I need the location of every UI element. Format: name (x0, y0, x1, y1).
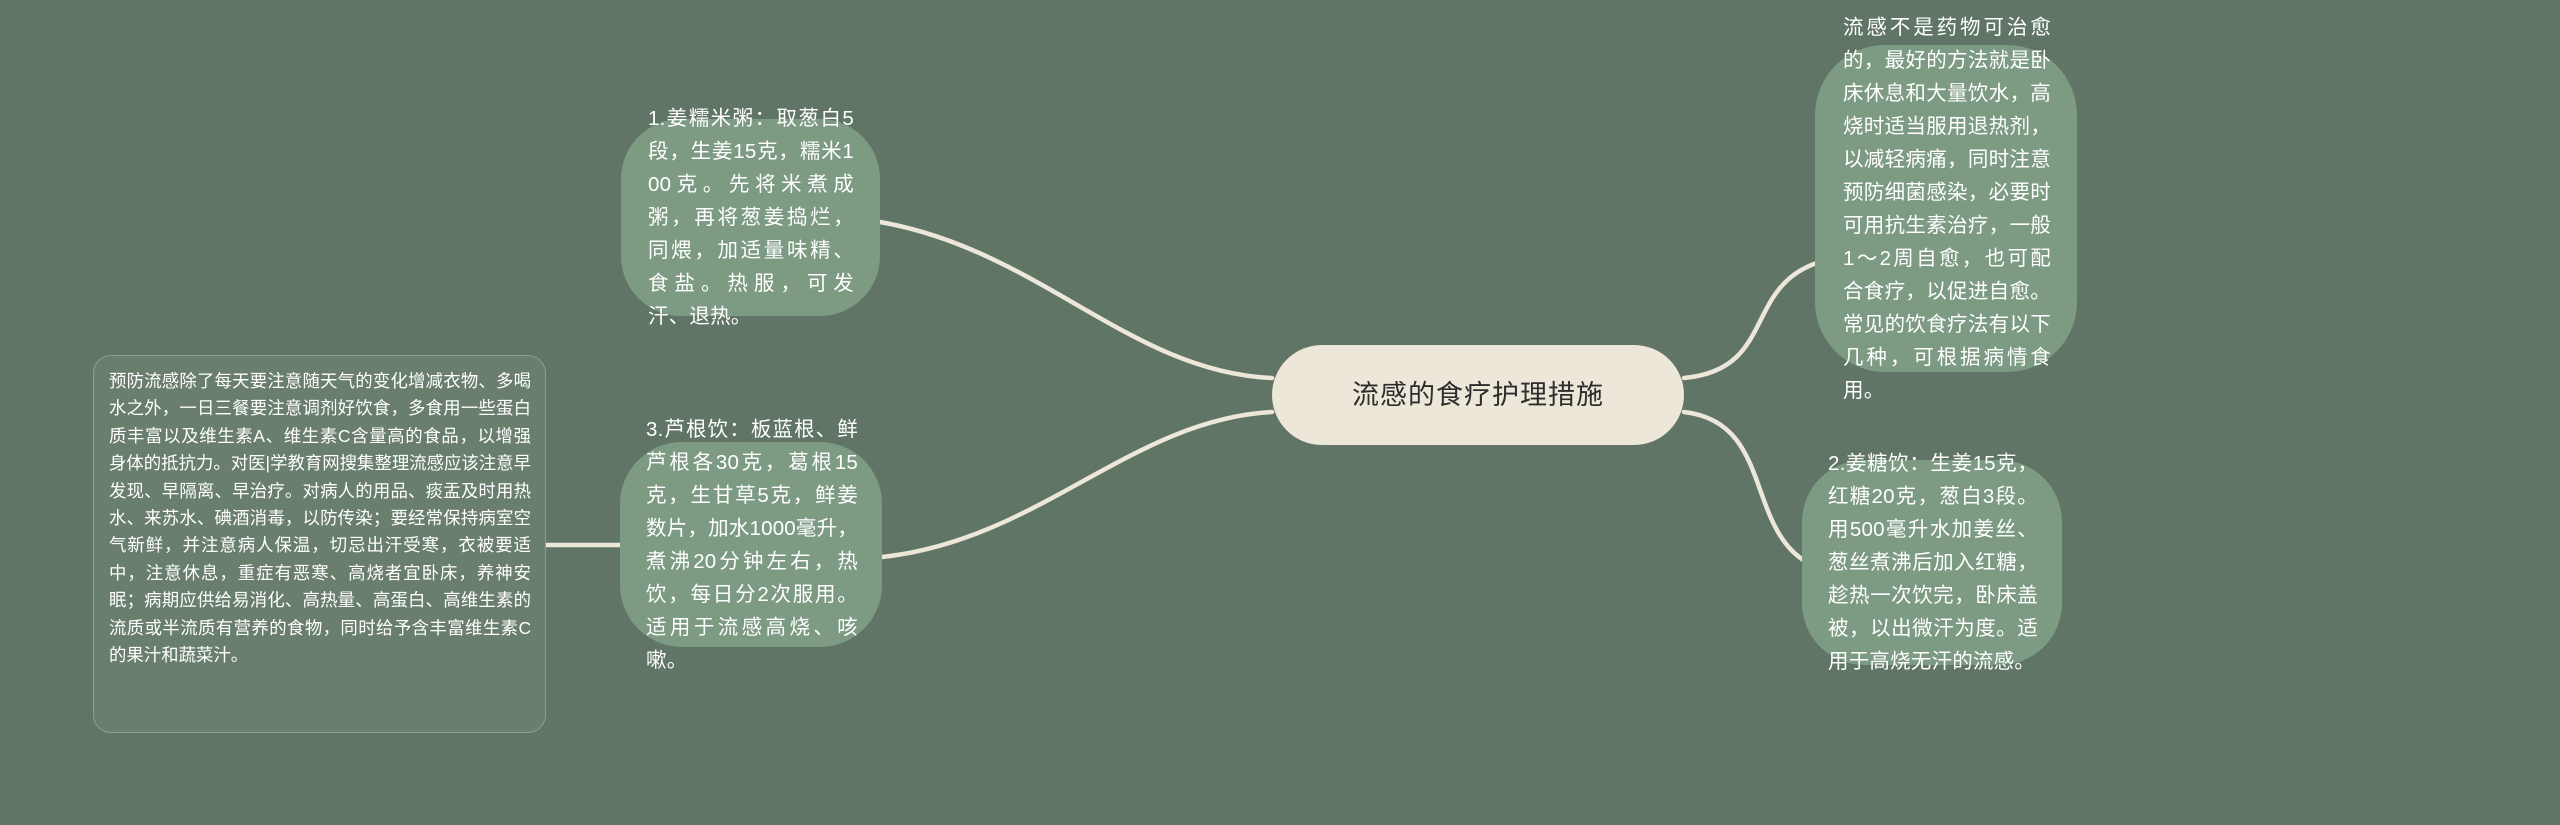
node-item-1-text: 1.姜糯米粥：取葱白5段，生姜15克，糯米100克。先将米煮成粥，再将葱姜捣烂，… (648, 102, 854, 333)
prevention-note-box[interactable]: 预防流感除了每天要注意随天气的变化增减衣物、多喝水之外，一日三餐要注意调剂好饮食… (93, 355, 546, 733)
node-intro-text: 流感不是药物可治愈的，最好的方法就是卧床休息和大量饮水，高烧时适当服用退热剂，以… (1843, 11, 2051, 407)
prevention-note-text: 预防流感除了每天要注意随天气的变化增减衣物、多喝水之外，一日三餐要注意调剂好饮食… (109, 368, 531, 669)
center-node-label: 流感的食疗护理措施 (1352, 378, 1604, 412)
mindmap-node-item-3[interactable]: 3.芦根饮：板蓝根、鲜芦根各30克，葛根15克，生甘草5克，鲜姜数片，加水100… (620, 442, 882, 647)
node-item-2-text: 2.姜糖饮：生姜15克，红糖20克，葱白3段。用500毫升水加姜丝、葱丝煮沸后加… (1828, 447, 2038, 678)
node-item-3-text: 3.芦根饮：板蓝根、鲜芦根各30克，葛根15克，生甘草5克，鲜姜数片，加水100… (646, 413, 858, 677)
edge-center-to-item-1 (880, 222, 1272, 378)
mindmap-canvas: 1.姜糯米粥：取葱白5段，生姜15克，糯米100克。先将米煮成粥，再将葱姜捣烂，… (0, 0, 2560, 825)
mindmap-node-item-2[interactable]: 2.姜糖饮：生姜15克，红糖20克，葱白3段。用500毫升水加姜丝、葱丝煮沸后加… (1802, 460, 2062, 665)
mindmap-node-intro[interactable]: 流感不是药物可治愈的，最好的方法就是卧床休息和大量饮水，高烧时适当服用退热剂，以… (1815, 45, 2077, 372)
mindmap-node-item-1[interactable]: 1.姜糯米粥：取葱白5段，生姜15克，糯米100克。先将米煮成粥，再将葱姜捣烂，… (621, 119, 880, 316)
mindmap-center-node[interactable]: 流感的食疗护理措施 (1272, 345, 1684, 445)
edge-center-to-item-3 (882, 412, 1272, 557)
